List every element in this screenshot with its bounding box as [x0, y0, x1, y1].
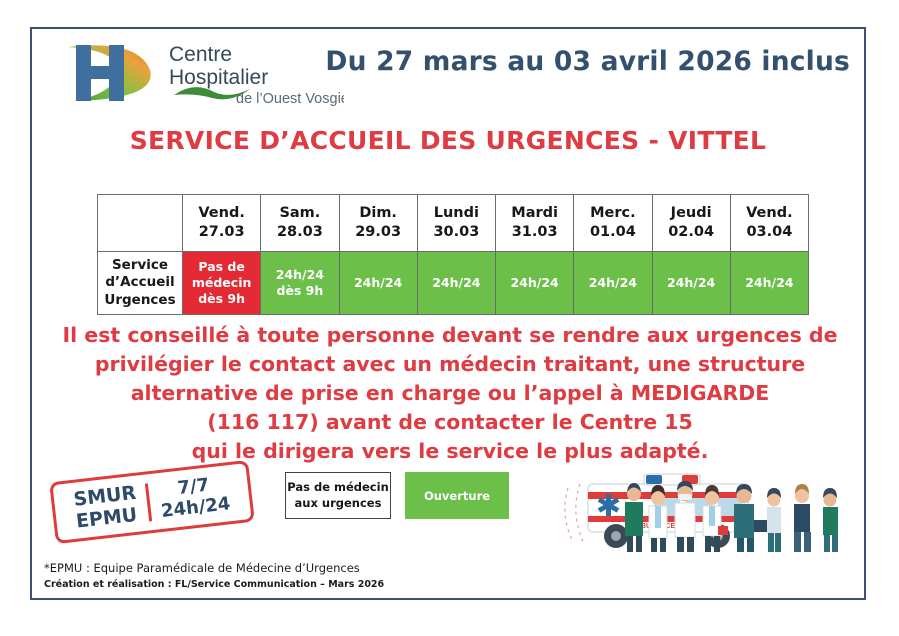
- stamp-left-text: SMUR EPMU: [72, 481, 139, 533]
- column-date-2: 29.03: [340, 223, 417, 242]
- schedule-cell-0: Pas de médecin dès 9h: [183, 252, 261, 315]
- footer-epmu-definition: *EPMU : Equipe Paramédicale de Médecine …: [44, 561, 384, 575]
- advisory-line-1: Il est conseillé à toute personne devant…: [52, 321, 848, 350]
- legend-item-open: Ouverture: [405, 472, 509, 519]
- stamp-right-text: 7/7 24h/24: [158, 472, 232, 522]
- column-date-5: 01.04: [574, 223, 651, 242]
- column-day-1: Sam.: [261, 204, 338, 223]
- staff-figure-8: [823, 488, 838, 552]
- schedule-cell-3: 24h/24: [417, 252, 495, 315]
- column-header-6: Jeudi 02.04: [652, 195, 730, 252]
- schedule-cell-6: 24h/24: [652, 252, 730, 315]
- cell-0-line-1: Pas de: [183, 259, 260, 275]
- column-header-1: Sam. 28.03: [261, 195, 339, 252]
- column-day-6: Jeudi: [653, 204, 730, 223]
- cell-2-line-1: 24h/24: [340, 275, 417, 291]
- date-range-banner: Du 27 mars au 03 avril 2026 inclus: [325, 46, 850, 77]
- hospital-logo: Centre Hospitalier de l’Ouest Vosgien: [54, 37, 344, 109]
- footer-credit: Création et réalisation : FL/Service Com…: [44, 579, 384, 590]
- table-corner-cell: [98, 195, 183, 252]
- illustration-graphic: AMBULANCE: [558, 458, 858, 554]
- cell-5-line-1: 24h/24: [574, 275, 651, 291]
- column-day-3: Lundi: [418, 204, 495, 223]
- medical-team-illustration: AMBULANCE: [558, 458, 858, 554]
- cell-4-line-1: 24h/24: [496, 275, 573, 291]
- logo-graphic: Centre Hospitalier de l’Ouest Vosgien: [54, 37, 344, 109]
- advisory-text: Il est conseillé à toute personne devant…: [52, 321, 848, 467]
- schedule-table: Vend. 27.03 Sam. 28.03 Dim. 29.03 Lundi …: [97, 194, 809, 315]
- poster-header: Centre Hospitalier de l’Ouest Vosgien Du…: [32, 29, 864, 111]
- advisory-line-4: (116 117) avant de contacter le Centre 1…: [52, 408, 848, 437]
- table-header-row: Vend. 27.03 Sam. 28.03 Dim. 29.03 Lundi …: [98, 195, 809, 252]
- column-date-1: 28.03: [261, 223, 338, 242]
- staff-figure-3: [675, 481, 695, 552]
- ambulance-icon: AMBULANCE: [588, 474, 748, 548]
- staff-figure-1: [625, 483, 643, 552]
- cell-1-line-2: dès 9h: [261, 283, 338, 299]
- row-label-service: Service d’Accueil Urgences: [98, 252, 183, 315]
- logo-text-line2: Hospitalier: [169, 66, 268, 89]
- column-header-3: Lundi 30.03: [417, 195, 495, 252]
- page-title: SERVICE D’ACCUEIL DES URGENCES - VITTEL: [32, 126, 864, 155]
- logo-text-line3: de l’Ouest Vosgien: [236, 91, 344, 107]
- legend-closed-line-1: Pas de médecin: [287, 480, 389, 496]
- staff-figure-2: [649, 485, 667, 552]
- legend-item-no-doctor: Pas de médecin aux urgences: [285, 472, 391, 519]
- cell-7-line-1: 24h/24: [731, 275, 808, 291]
- poster-frame: Centre Hospitalier de l’Ouest Vosgien Du…: [30, 27, 866, 600]
- column-header-7: Vend. 03.04: [730, 195, 808, 252]
- column-date-4: 31.03: [496, 223, 573, 242]
- row-label-line-1: Service: [98, 257, 182, 275]
- row-label-line-3: Urgences: [98, 292, 182, 310]
- column-date-6: 02.04: [653, 223, 730, 242]
- smur-epmu-stamp: SMUR EPMU 7/7 24h/24: [49, 460, 255, 544]
- legend-closed-line-2: aux urgences: [287, 496, 389, 512]
- motion-lines: [565, 484, 584, 544]
- cell-1-line-1: 24h/24: [261, 267, 338, 283]
- cell-0-line-3: dès 9h: [183, 291, 260, 307]
- staff-figure-5: [734, 484, 768, 552]
- row-label-line-2: d’Accueil: [98, 274, 182, 292]
- advisory-line-2: privilégier le contact avec un médecin t…: [52, 350, 848, 379]
- column-header-0: Vend. 27.03: [183, 195, 261, 252]
- column-day-5: Merc.: [574, 204, 651, 223]
- staff-figure-6: [767, 488, 781, 552]
- column-day-2: Dim.: [340, 204, 417, 223]
- schedule-cell-1: 24h/24 dès 9h: [261, 252, 339, 315]
- schedule-cell-7: 24h/24: [730, 252, 808, 315]
- schedule-cell-2: 24h/24: [339, 252, 417, 315]
- stamp-content: SMUR EPMU 7/7 24h/24: [72, 471, 231, 533]
- column-date-7: 03.04: [731, 223, 808, 242]
- column-date-0: 27.03: [183, 223, 260, 242]
- logo-letter-h: [76, 45, 124, 101]
- schedule-cell-5: 24h/24: [574, 252, 652, 315]
- column-header-2: Dim. 29.03: [339, 195, 417, 252]
- stamp-divider: [145, 483, 152, 521]
- logo-text-line1: Centre: [169, 43, 232, 66]
- column-header-4: Mardi 31.03: [496, 195, 574, 252]
- cell-3-line-1: 24h/24: [418, 275, 495, 291]
- advisory-line-3: alternative de prise en charge ou l’appe…: [52, 379, 848, 408]
- cell-6-line-1: 24h/24: [653, 275, 730, 291]
- schedule-cell-4: 24h/24: [496, 252, 574, 315]
- table-row: Service d’Accueil Urgences Pas de médeci…: [98, 252, 809, 315]
- column-day-0: Vend.: [183, 204, 260, 223]
- column-day-7: Vend.: [731, 204, 808, 223]
- column-header-5: Merc. 01.04: [574, 195, 652, 252]
- column-date-3: 30.03: [418, 223, 495, 242]
- staff-figure-7: [794, 484, 811, 552]
- column-day-4: Mardi: [496, 204, 573, 223]
- legend: Pas de médecin aux urgences Ouverture: [285, 472, 509, 519]
- poster-footer: *EPMU : Equipe Paramédicale de Médecine …: [44, 561, 384, 590]
- cell-0-line-2: médecin: [183, 275, 260, 291]
